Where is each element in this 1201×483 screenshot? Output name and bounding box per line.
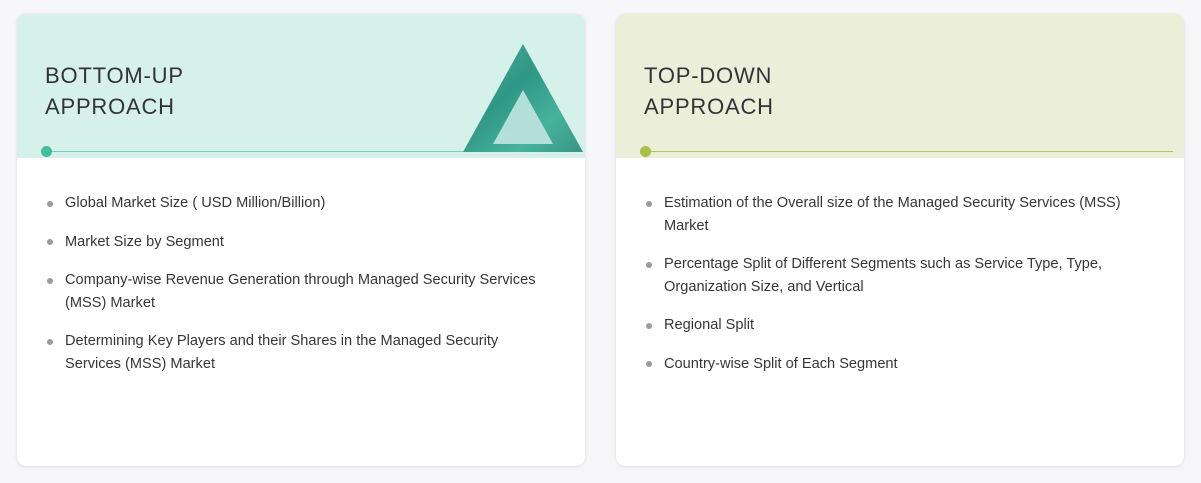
list-item: Global Market Size ( USD Million/Billion… <box>33 192 555 215</box>
list-item-label: Company-wise Revenue Generation through … <box>65 272 536 311</box>
bullet-dot-icon <box>47 339 53 345</box>
card-header-bottom-up: BOTTOM-UP APPROACH <box>17 14 585 158</box>
list-item-label: Market Size by Segment <box>65 234 224 250</box>
header-rule-dot-bottom-up <box>41 146 52 157</box>
triangle-up-outline-icon <box>461 42 585 154</box>
list-item: Regional Split <box>632 314 1154 337</box>
card-body-bottom-up: Global Market Size ( USD Million/Billion… <box>17 158 585 375</box>
card-top-down-approach: TOP-DOWN APPROACH <box>616 14 1184 466</box>
approach-comparison-board: BOTTOM-UP APPROACH <box>0 0 1201 483</box>
card-bottom-up-approach: BOTTOM-UP APPROACH <box>17 14 585 466</box>
card-header-top-down: TOP-DOWN APPROACH <box>616 14 1184 158</box>
card-title-top-down: TOP-DOWN APPROACH <box>644 60 774 122</box>
bullet-dot-icon <box>47 278 53 284</box>
bullet-dot-icon <box>47 239 53 245</box>
bullet-dot-icon <box>646 361 652 367</box>
list-item: Market Size by Segment <box>33 231 555 254</box>
bullet-dot-icon <box>646 201 652 207</box>
list-item-label: Estimation of the Overall size of the Ma… <box>664 195 1121 234</box>
list-item: Estimation of the Overall size of the Ma… <box>632 192 1154 237</box>
list-item: Country-wise Split of Each Segment <box>632 353 1154 376</box>
header-rule-dot-top-down <box>640 146 651 157</box>
list-item: Determining Key Players and their Shares… <box>33 330 555 375</box>
bullet-dot-icon <box>47 201 53 207</box>
list-item-label: Global Market Size ( USD Million/Billion… <box>65 195 325 211</box>
bullet-list-bottom-up: Global Market Size ( USD Million/Billion… <box>33 192 555 375</box>
list-item-label: Regional Split <box>664 317 754 333</box>
bullet-dot-icon <box>646 262 652 268</box>
header-rule-top-down <box>645 151 1173 152</box>
card-body-top-down: Estimation of the Overall size of the Ma… <box>616 158 1184 375</box>
bullet-dot-icon <box>646 323 652 329</box>
list-item-label: Country-wise Split of Each Segment <box>664 356 898 372</box>
list-item: Company-wise Revenue Generation through … <box>33 269 555 314</box>
bullet-list-top-down: Estimation of the Overall size of the Ma… <box>632 192 1154 375</box>
list-item: Percentage Split of Different Segments s… <box>632 253 1154 298</box>
list-item-label: Determining Key Players and their Shares… <box>65 333 498 372</box>
card-title-bottom-up: BOTTOM-UP APPROACH <box>45 60 184 122</box>
list-item-label: Percentage Split of Different Segments s… <box>664 256 1102 295</box>
